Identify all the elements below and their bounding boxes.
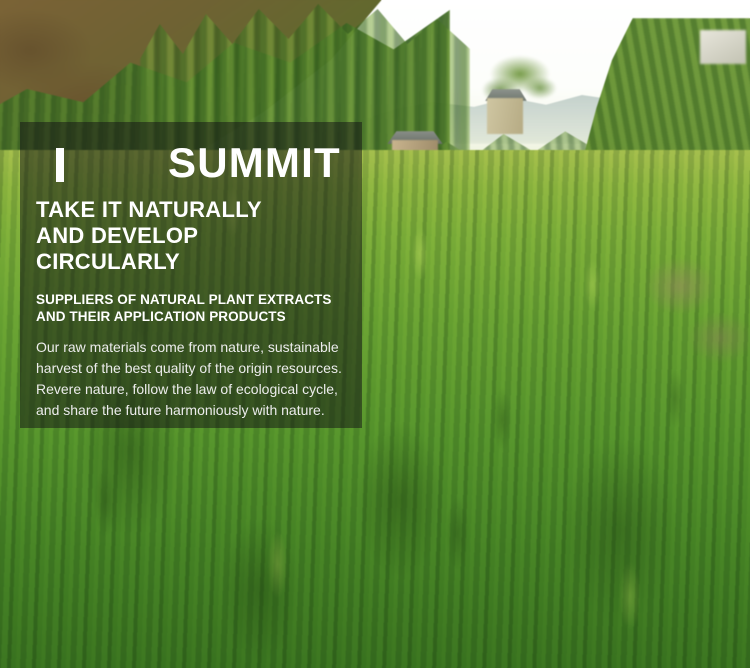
subheadline-line-2: AND THEIR APPLICATION PRODUCTS — [36, 308, 346, 325]
brand-name: SUMMIT — [168, 139, 341, 187]
brand-bar-icon — [56, 148, 64, 182]
hero-text-content: SUMMIT TAKE IT NATURALLY AND DEVELOP CIR… — [20, 122, 362, 421]
subheadline-line-1: SUPPLIERS OF NATURAL PLANT EXTRACTS — [36, 291, 346, 308]
body-paragraph-1: Our raw materials come from nature, sust… — [36, 337, 346, 379]
body-paragraph-2: Revere nature, follow the law of ecologi… — [36, 379, 346, 421]
hero-banner: SUMMIT TAKE IT NATURALLY AND DEVELOP CIR… — [0, 0, 750, 668]
brand-row: SUMMIT — [36, 139, 346, 187]
hero-subheadline: SUPPLIERS OF NATURAL PLANT EXTRACTS AND … — [36, 291, 346, 325]
hero-headline: TAKE IT NATURALLY AND DEVELOP CIRCULARLY — [36, 197, 346, 275]
hero-body-copy: Our raw materials come from nature, sust… — [36, 337, 346, 421]
headline-line-1: TAKE IT NATURALLY — [36, 197, 346, 223]
headline-line-2: AND DEVELOP CIRCULARLY — [36, 223, 346, 275]
hero-text-panel: SUMMIT TAKE IT NATURALLY AND DEVELOP CIR… — [20, 122, 362, 428]
